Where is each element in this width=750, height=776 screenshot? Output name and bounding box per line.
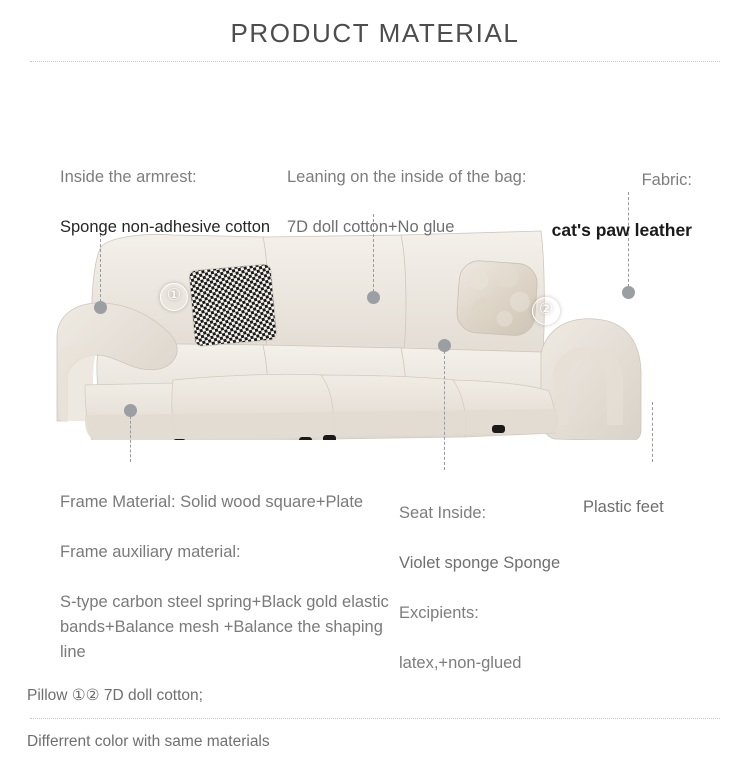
footer-line-1: Pillow ①② 7D doll cotton; — [27, 684, 447, 707]
leader-line-seat — [444, 351, 445, 470]
callout-seat-body: Violet sponge Sponge — [399, 551, 629, 576]
callout-fabric: Fabric: cat's paw leather — [552, 143, 692, 268]
leader-line-frame — [130, 416, 131, 462]
callout-bag-lead: Leaning on the inside of the bag: — [287, 165, 527, 190]
page-title: PRODUCT MATERIAL — [0, 18, 750, 49]
callout-dot-armrest — [94, 301, 107, 314]
callout-feet-body: Plastic feet — [583, 495, 664, 520]
callout-bag-body: 7D doll cotton+No glue — [287, 215, 527, 240]
product-material-page: PRODUCT MATERIAL — [0, 0, 750, 745]
callout-frame-line-2: Frame auxiliary material: — [60, 540, 405, 565]
callout-feet: Plastic feet — [583, 470, 664, 545]
callout-frame: Frame Material: Solid wood square+Plate … — [60, 465, 405, 690]
callout-dot-fabric — [622, 286, 635, 299]
footer-line-2: Differrent color with same materials — [27, 730, 447, 753]
divider-top — [30, 61, 720, 62]
callout-frame-line-1: Frame Material: Solid wood square+Plate — [60, 490, 405, 515]
callout-bag: Leaning on the inside of the bag: 7D dol… — [287, 140, 527, 265]
callout-dot-bag — [367, 291, 380, 304]
leader-line-feet — [652, 402, 653, 462]
callout-armrest-lead: Inside the armrest: — [60, 165, 290, 190]
callout-seat-lead-2: Excipients: — [399, 601, 629, 626]
pillow-marker-2: ② — [532, 297, 560, 325]
callout-frame-line-3: S-type carbon steel spring+Black gold el… — [60, 590, 405, 665]
callout-fabric-lead: Fabric: — [552, 168, 692, 193]
divider-bottom — [30, 718, 720, 719]
pillow-marker-1: ① — [160, 283, 188, 311]
callout-armrest: Inside the armrest: Sponge non-adhesive … — [60, 140, 290, 265]
callout-fabric-body: cat's paw leather — [552, 218, 692, 243]
callout-armrest-body: Sponge non-adhesive cotton — [60, 215, 290, 240]
